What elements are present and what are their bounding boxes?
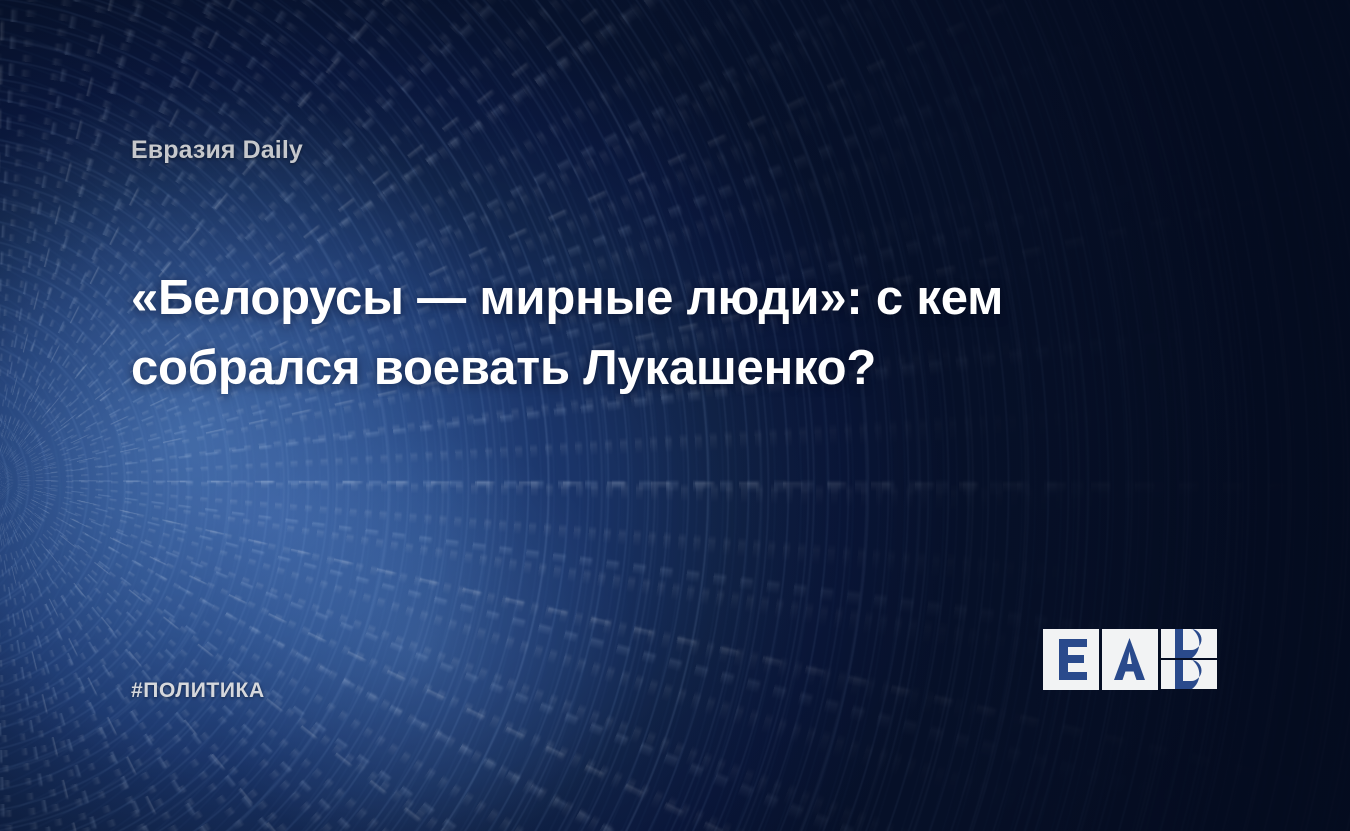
eadaily-logo <box>1043 629 1217 690</box>
logo-letter-d-rotated-icon <box>1161 629 1217 658</box>
category-hashtag: #ПОЛИТИКА <box>131 679 265 703</box>
logo-letter-a-icon <box>1102 629 1158 690</box>
logo-tile-e <box>1043 629 1099 690</box>
headline-title: «Белорусы — мирные люди»: с кем собрался… <box>131 264 1131 403</box>
logo-letter-d-icon <box>1161 660 1217 689</box>
social-share-card: Евразия Daily «Белорусы — мирные люди»: … <box>0 0 1350 831</box>
card-content: Евразия Daily «Белорусы — мирные люди»: … <box>0 0 1350 831</box>
logo-tile-d-stack <box>1161 629 1217 689</box>
logo-tile-d-top <box>1161 629 1217 658</box>
logo-tile-d-bottom <box>1161 660 1217 689</box>
logo-letter-e-icon <box>1043 629 1099 690</box>
brand-name: Евразия Daily <box>131 136 303 165</box>
logo-tile-a <box>1102 629 1158 690</box>
